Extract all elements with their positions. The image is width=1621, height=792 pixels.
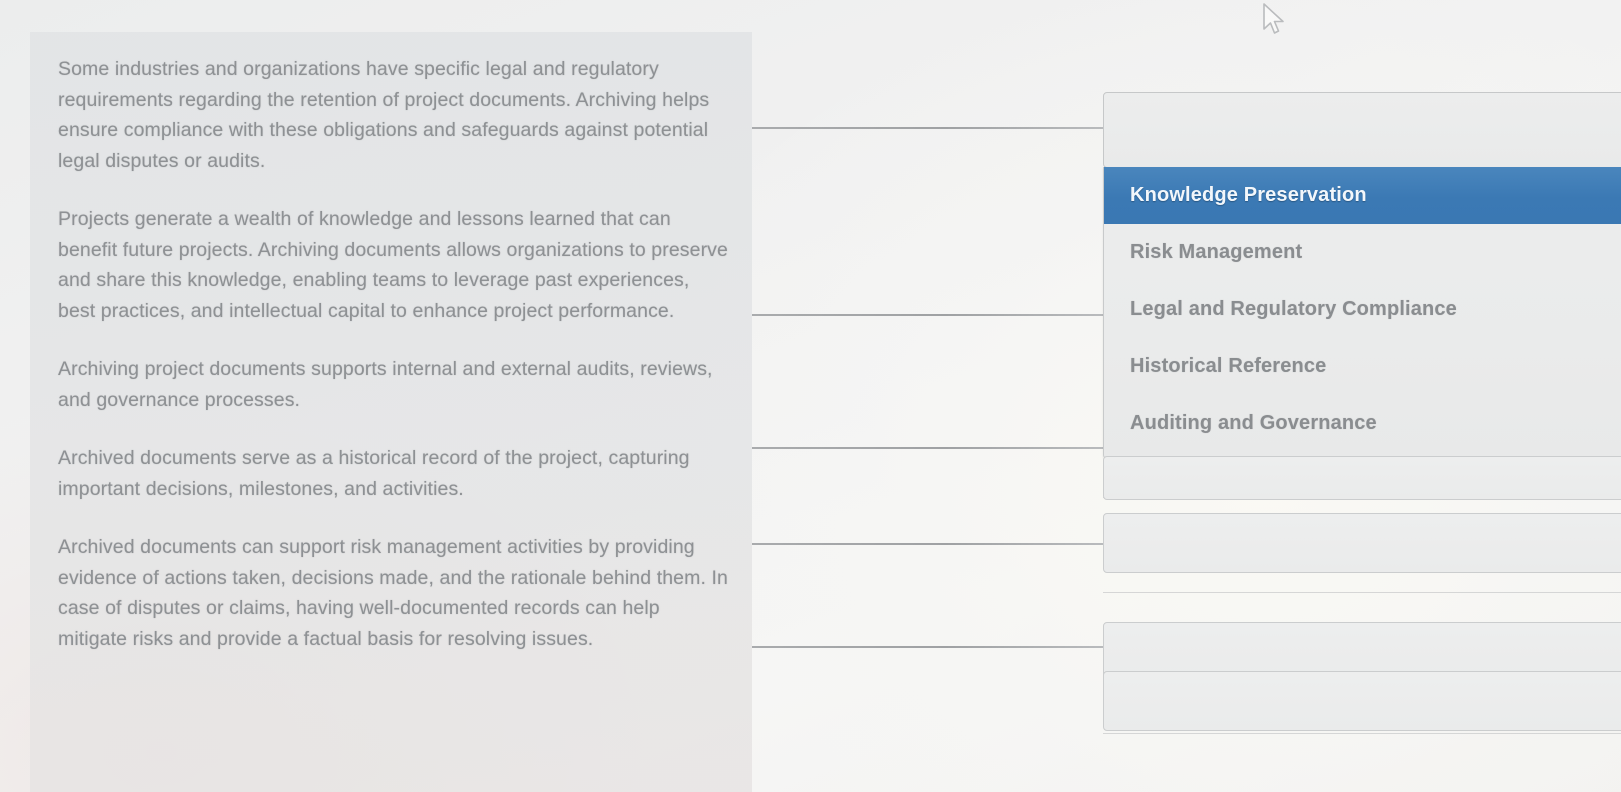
dropdown-option-risk-management[interactable]: Risk Management: [1104, 224, 1621, 281]
dropdown-option-knowledge-preservation[interactable]: Knowledge Preservation: [1104, 167, 1621, 224]
answer-select-2[interactable]: [1103, 456, 1621, 500]
dropdown-option-legal-and-regulatory-compliance[interactable]: Legal and Regulatory Compliance: [1104, 281, 1621, 338]
mouse-pointer-arrow-icon: [1262, 3, 1288, 37]
answer-select-3[interactable]: [1103, 513, 1621, 573]
category-dropdown-list[interactable]: Knowledge Preservation Risk Management L…: [1103, 167, 1621, 459]
page-rule-4: [1103, 592, 1621, 593]
paragraph-5: Archived documents can support risk mana…: [58, 532, 732, 654]
connector-line-2: [752, 314, 1104, 316]
dropdown-option-auditing-and-governance[interactable]: Auditing and Governance: [1104, 395, 1621, 452]
paragraph-3: Archiving project documents supports int…: [58, 354, 732, 415]
connector-line-3: [752, 447, 1104, 449]
connector-line-4: [752, 543, 1104, 545]
connector-line-1: [752, 127, 1104, 129]
paragraph-4: Archived documents serve as a historical…: [58, 443, 732, 504]
answer-select-5[interactable]: [1103, 671, 1621, 731]
page-rule-5: [1103, 733, 1621, 734]
dropdown-option-historical-reference[interactable]: Historical Reference: [1104, 338, 1621, 395]
screen: Some industries and organizations have s…: [0, 0, 1621, 792]
paragraph-2: Projects generate a wealth of knowledge …: [58, 204, 732, 326]
connector-line-5: [752, 646, 1104, 648]
category-select-closed-field[interactable]: [1103, 92, 1621, 168]
paragraph-1: Some industries and organizations have s…: [58, 54, 732, 176]
document-text-panel: Some industries and organizations have s…: [30, 32, 752, 792]
